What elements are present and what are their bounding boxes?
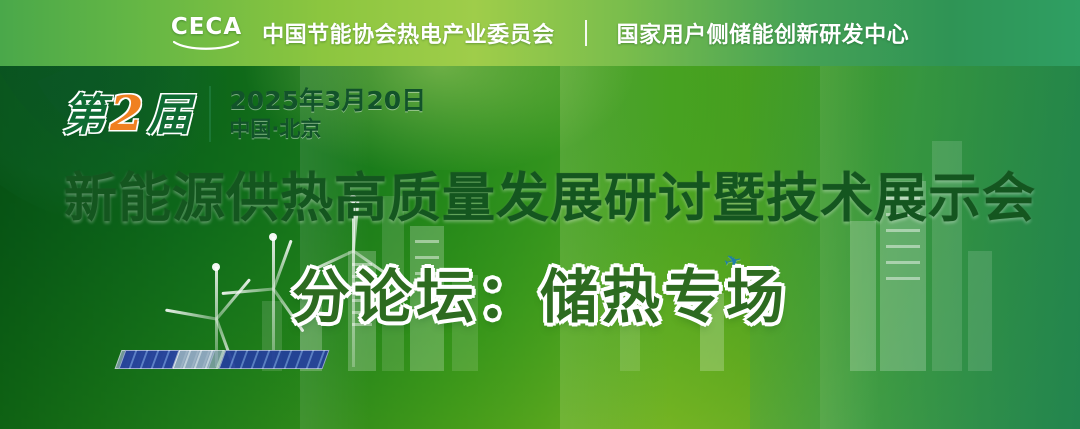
bottom-band [0,370,1080,429]
organization-secondary: 国家用户侧储能创新研发中心 [617,17,910,49]
banner-header: CECA 中国节能协会热电产业委员会 国家用户侧储能创新研发中心 [0,0,1080,66]
edition-divider [209,86,211,142]
edition-label: 第2届 [62,90,191,138]
header-divider [585,20,587,46]
edition-suffix: 届 [147,90,191,141]
edition-prefix: 第 [62,90,106,141]
page-title: 新能源供热高质量发展研讨暨技术展示会 [64,172,1024,225]
event-location: 中国·北京 [229,118,426,140]
date-location-column: 2025年3月20日 中国·北京 [229,88,426,140]
solar-panel-icon [219,350,330,369]
ceca-swoosh-icon [173,40,239,51]
solar-panel-icon [173,350,226,369]
ceca-logo: CECA [171,16,242,51]
edition-date-block: 第2届 2025年3月20日 中国·北京 [62,86,426,142]
edition-number: 2 [106,86,147,142]
organization-primary: 中国节能协会热电产业委员会 [262,17,555,49]
page-subtitle: 分论坛：储热专场 [0,268,1080,326]
event-date: 2025年3月20日 [229,88,426,114]
ceca-logo-text: CECA [171,16,242,39]
solar-panel-icon [119,350,180,369]
event-banner: ✈ ✈ ✈ CECA 中国节能协会热电产业委员会 国家用户侧储能创新研发中心 第… [0,0,1080,429]
